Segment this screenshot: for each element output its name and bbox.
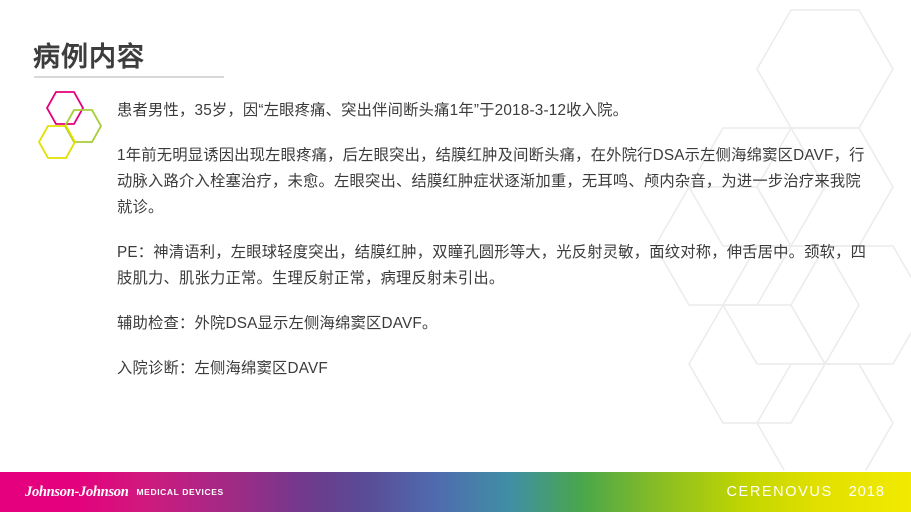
paragraph-4: 辅助检查：外院DSA显示左侧海绵窦区DAVF。 <box>117 311 872 337</box>
paragraph-1: 患者男性，35岁，因“左眼疼痛、突出伴间断头痛1年”于2018-3-12收入院。 <box>117 98 872 124</box>
paragraph-3: PE：神清语利，左眼球轻度突出，结膜红肿，双瞳孔圆形等大，光反射灵敏，面纹对称，… <box>117 240 872 292</box>
footer-logo-group: Johnson-Johnson MEDICAL DEVICES <box>25 472 224 512</box>
body-text: 患者男性，35岁，因“左眼疼痛、突出伴间断头痛1年”于2018-3-12收入院。… <box>117 98 872 382</box>
slide-root: 病例内容 患者男性，35岁，因“左眼疼痛、突出伴间断头痛1年”于2018-3-1… <box>0 0 911 512</box>
brand-name: CERENOVUS <box>726 484 832 500</box>
paragraph-2: 1年前无明显诱因出现左眼疼痛，后左眼突出，结膜红肿及间断头痛，在外院行DSA示左… <box>117 143 872 221</box>
title-underline <box>34 76 224 78</box>
johnson-johnson-logo: Johnson-Johnson <box>25 484 129 501</box>
footer-brand-group: CERENOVUS 2018 <box>726 472 885 512</box>
page-title: 病例内容 <box>33 35 145 74</box>
year-label: 2018 <box>849 484 885 500</box>
paragraph-5: 入院诊断：左侧海绵窦区DAVF <box>117 356 872 382</box>
hexagon-bullet-icon <box>36 90 104 164</box>
logo-subtitle: MEDICAL DEVICES <box>137 487 224 497</box>
